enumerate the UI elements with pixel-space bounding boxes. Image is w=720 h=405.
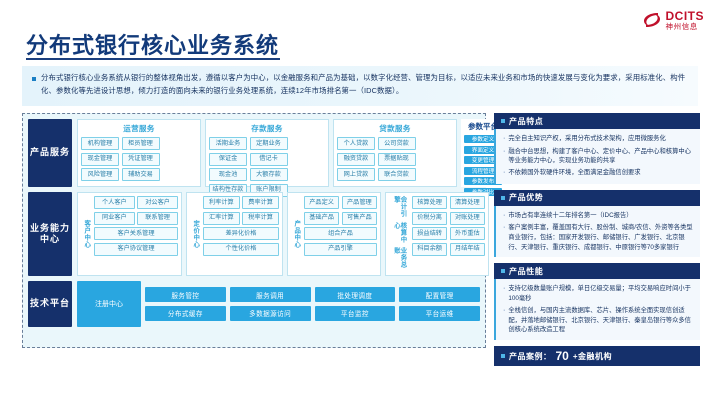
center-cell[interactable]: 外币重估 (450, 227, 485, 240)
info-panels: 产品特点 · 完全自主知识产权，采用分布式技术架构，应用微服务化 · 融合中台思… (494, 113, 700, 366)
bullet-dot-icon: · (503, 168, 505, 179)
service-cell[interactable]: 公司贷款 (378, 137, 416, 150)
list-item: · 完全自主知识产权，采用分布式技术架构，应用微服务化 (503, 134, 693, 145)
panel-product-performance: 产品性能 · 支持亿级数量账户规模，单日亿级交易量；平均交易响应时间小于100毫… (494, 263, 700, 340)
page-title: 分布式银行核心业务系统 (26, 28, 279, 60)
center-cell[interactable]: 利率计算 (203, 196, 240, 209)
bullet-square-icon (32, 77, 36, 81)
list-item: · 全栈信创，与国内主流数据库、芯片、操作系统全面实现信创适配，并落地邮储银行、… (503, 306, 693, 335)
service-cell[interactable]: 辅助交易 (122, 168, 160, 181)
center-label: 定价中心 (190, 196, 200, 272)
center-label: 核算中心 (393, 222, 406, 247)
center-label-group: 会计引擎 核算中心 业务总账 (389, 196, 409, 272)
center-cell[interactable]: 汇率计算 (203, 212, 240, 225)
group-loan-service: 贷款服务 个人贷款 公司贷款 融资贷款 票据贴现 网上贷款 联合贷款 (333, 119, 457, 187)
service-cell[interactable]: 定期业务 (250, 137, 288, 150)
service-cell[interactable]: 个人贷款 (337, 137, 375, 150)
center-cell[interactable]: 个性化价格 (203, 243, 279, 256)
center-cell[interactable]: 产品定义 (304, 196, 339, 209)
brand-logo: DCITS 神州信息 (642, 10, 705, 31)
list-item: · 融合中台思想，构建了客户中心、定价中心、产品中心和核算中心等业务能力中心，实… (503, 147, 693, 167)
list-item-text: 客户案例丰富，覆盖国有大行、股份制、城商/农信、外资等各类型商业银行，包括：国家… (508, 223, 693, 252)
center-cell[interactable]: 对账处理 (450, 212, 485, 225)
center-cell[interactable]: 清算处理 (450, 196, 485, 209)
list-item-text: 不依赖国外软硬件环境，全面满足金融信创要求 (508, 168, 640, 179)
center-cell[interactable]: 科目余额 (412, 243, 447, 256)
center-accounting: 会计引擎 核算中心 业务总账 核算处理 清算处理 价税分离 对账处理 (385, 192, 489, 276)
service-cell[interactable]: 现金池 (209, 168, 247, 181)
case-number: 70 (556, 349, 569, 363)
panel-product-advantages: 产品优势 · 市场占有率连续十二年排名第一（IDC报告） · 客户案例丰富，覆盖… (494, 190, 700, 258)
panel-title: 产品性能 (509, 266, 543, 277)
band-label-product-service: 产品服务 (28, 119, 72, 187)
swirl-logo-icon (642, 10, 662, 30)
group-title: 运营服务 (81, 123, 197, 134)
service-cell[interactable]: 柜员管理 (122, 137, 160, 150)
center-label: 产品中心 (291, 196, 301, 272)
bullet-dot-icon: · (503, 211, 505, 222)
list-item: · 客户案例丰富，覆盖国有大行、股份制、城商/农信、外资等各类型商业银行，包括：… (503, 223, 693, 252)
service-cell[interactable]: 票据贴现 (378, 153, 416, 166)
group-operations-service: 运营服务 机构管理 柜员管理 现金管理 凭证管理 风险管理 辅助交易 (77, 119, 201, 187)
bullet-dot-icon: · (503, 284, 505, 304)
center-label: 客户中心 (81, 196, 91, 272)
service-cell[interactable]: 机构管理 (81, 137, 119, 150)
center-customer: 客户中心 个人客户 对公客户 同业客户 联系管理 客户关系管理 (77, 192, 182, 276)
tech-cell[interactable]: 平台监控 (315, 306, 396, 321)
center-cell[interactable]: 产品管理 (342, 196, 377, 209)
service-cell[interactable]: 保证金 (209, 153, 247, 166)
registry-center-button[interactable]: 注册中心 (77, 281, 141, 327)
list-item-text: 完全自主知识产权，采用分布式技术架构，应用微服务化 (508, 134, 665, 145)
center-cell[interactable]: 产品引擎 (304, 243, 377, 256)
brand-name-en: DCITS (666, 10, 705, 22)
group-deposit-service: 存款服务 活期业务 定期业务 保证金 借记卡 现金池 大额存款 结构性存款 账户… (205, 119, 329, 187)
tech-cell[interactable]: 服务管控 (145, 287, 226, 302)
center-cell[interactable]: 联系管理 (137, 212, 178, 225)
center-pricing: 定价中心 利率计算 费率计算 汇率计算 税率计算 差异化价格 (186, 192, 283, 276)
list-item: · 市场占有率连续十二年排名第一（IDC报告） (503, 211, 693, 222)
service-cell[interactable]: 现金管理 (81, 153, 119, 166)
center-cell[interactable]: 月结年结 (450, 243, 485, 256)
list-item-text: 全栈信创，与国内主流数据库、芯片、操作系统全面实现信创适配，并落地邮储银行、北京… (508, 306, 693, 335)
center-cell[interactable]: 同业客户 (94, 212, 135, 225)
intro-banner: 分布式银行核心业务系统从银行的整体视角出发，遵循以客户为中心，以金融服务和产品为… (22, 66, 698, 106)
accounting-engine-label: 会计引擎 (393, 196, 406, 221)
center-cell[interactable]: 组合产品 (304, 227, 377, 240)
center-cell[interactable]: 客户协议管理 (94, 243, 178, 256)
tech-cell[interactable]: 配置管理 (399, 287, 480, 302)
bullet-dot-icon: · (503, 223, 505, 252)
title-underline (26, 58, 280, 60)
bullet-dot-icon: · (503, 147, 505, 167)
band-label-tech-platform: 技术平台 (28, 281, 72, 327)
bullet-square-icon (501, 269, 505, 273)
list-item-text: 支持亿级数量账户规模，单日亿级交易量；平均交易响应时间小于100毫秒 (508, 284, 693, 304)
center-cell[interactable]: 基础产品 (304, 212, 339, 225)
service-cell[interactable]: 凭证管理 (122, 153, 160, 166)
panel-title: 产品优势 (509, 192, 543, 203)
center-product: 产品中心 产品定义 产品管理 基础产品 可售产品 组合产品 (287, 192, 381, 276)
list-item-text: 市场占有率连续十二年排名第一（IDC报告） (508, 211, 632, 222)
bullet-dot-icon: · (503, 306, 505, 335)
brand-name-cn: 神州信息 (666, 23, 705, 31)
panel-title: 产品特点 (509, 116, 543, 127)
list-item: · 不依赖国外软硬件环境，全面满足金融信创要求 (503, 168, 693, 179)
tech-cell[interactable]: 多数据源访问 (230, 306, 311, 321)
center-cell[interactable]: 差异化价格 (203, 227, 279, 240)
panel-product-features: 产品特点 · 完全自主知识产权，采用分布式技术架构，应用微服务化 · 融合中台思… (494, 113, 700, 184)
center-cell[interactable]: 对公客户 (137, 196, 178, 209)
center-cell[interactable]: 可售产品 (342, 212, 377, 225)
tech-cell[interactable]: 平台运维 (399, 306, 480, 321)
list-item: · 支持亿级数量账户规模，单日亿级交易量；平均交易响应时间小于100毫秒 (503, 284, 693, 304)
service-cell[interactable]: 网上贷款 (337, 168, 375, 181)
list-item-text: 融合中台思想，构建了客户中心、定价中心、产品中心和核算中心等业务能力中心，实现业… (508, 147, 693, 167)
service-cell[interactable]: 风险管理 (81, 168, 119, 181)
center-cell[interactable]: 损益结转 (412, 227, 447, 240)
tech-cell[interactable]: 批处理调度 (315, 287, 396, 302)
group-title: 贷款服务 (337, 123, 453, 134)
service-cell[interactable]: 融资贷款 (337, 153, 375, 166)
bullet-square-icon (501, 119, 505, 123)
center-cell[interactable]: 核算处理 (412, 196, 447, 209)
center-cell[interactable]: 税率计算 (242, 212, 279, 225)
center-cell[interactable]: 费率计算 (242, 196, 279, 209)
case-suffix: +金融机构 (573, 351, 612, 362)
brand-text: DCITS 神州信息 (666, 10, 705, 31)
bullet-dot-icon: · (503, 134, 505, 145)
service-cell[interactable]: 联合贷款 (378, 168, 416, 181)
architecture-diagram: 产品服务 运营服务 机构管理 柜员管理 现金管理 凭证管理 风险管理 辅助交易 … (22, 113, 486, 348)
group-title: 存款服务 (209, 123, 325, 134)
general-ledger-label: 业务总账 (393, 247, 406, 272)
intro-text: 分布式银行核心业务系统从银行的整体视角出发，遵循以客户为中心，以金融服务和产品为… (41, 72, 688, 98)
band-tech-platform: 技术平台 注册中心 服务管控 服务调用 批处理调度 配置管理 分布式缓存 多数据 (28, 281, 480, 327)
service-cell[interactable]: 活期业务 (209, 137, 247, 150)
band-capability-center: 业务能力中心 客户中心 个人客户 对公客户 同业客户 联系管理 (28, 192, 480, 276)
product-case-banner: 产品案例： 70 +金融机构 (494, 346, 700, 366)
service-cell[interactable]: 大额存款 (250, 168, 288, 181)
tech-cell[interactable]: 分布式缓存 (145, 306, 226, 321)
band-product-service: 产品服务 运营服务 机构管理 柜员管理 现金管理 凭证管理 风险管理 辅助交易 … (28, 119, 480, 187)
bullet-square-icon (501, 354, 505, 358)
band-label-capability-center: 业务能力中心 (28, 192, 72, 276)
center-cell[interactable]: 客户关系管理 (94, 227, 178, 240)
center-cell[interactable]: 个人客户 (94, 196, 135, 209)
bullet-square-icon (501, 196, 505, 200)
service-cell[interactable]: 借记卡 (250, 153, 288, 166)
center-cell[interactable]: 价税分离 (412, 212, 447, 225)
slide-root: DCITS 神州信息 分布式银行核心业务系统 分布式银行核心业务系统从银行的整体… (0, 0, 720, 405)
case-label: 产品案例： (509, 351, 552, 362)
tech-cell[interactable]: 服务调用 (230, 287, 311, 302)
